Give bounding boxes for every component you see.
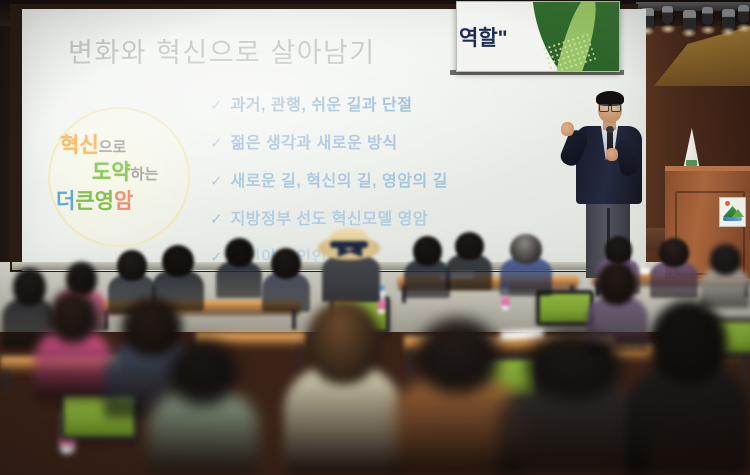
slide-bullet-text: 과거, 관행, 쉬운 길과 단절 — [231, 91, 413, 115]
logo-text-lines: 혁신으로 도약하는 더큰영암 — [48, 107, 190, 247]
logo-line3-a: 더 — [56, 190, 75, 213]
hat-ribbon-band — [330, 241, 368, 248]
ceiling-spotlight — [662, 6, 673, 24]
logo-line3-b: 큰 — [75, 190, 94, 213]
logo-line1-plain: 으로 — [99, 139, 127, 156]
check-icon: ✓ — [210, 174, 223, 189]
audience-head — [710, 244, 741, 275]
audience-head — [455, 232, 484, 260]
audience-member — [650, 238, 698, 298]
bottle-label — [501, 297, 509, 306]
audience-head — [307, 300, 380, 384]
spotlight-glow — [700, 25, 716, 35]
audience-member — [148, 340, 258, 475]
audience-head — [49, 290, 97, 343]
county-emblem-icon — [719, 197, 746, 227]
audience-head — [659, 238, 689, 267]
audience-member — [586, 262, 648, 352]
slide-title: 변화와 혁신으로 살아남기 — [68, 31, 376, 70]
audience-head — [510, 234, 542, 264]
audience-head — [598, 262, 636, 305]
logo-line2-accent: 도약 — [92, 161, 131, 184]
audience-head — [117, 250, 147, 281]
logo-line3-d: 암 — [114, 190, 133, 213]
slide-bullet-text: 젊은 생각과 새로운 방식 — [231, 129, 398, 153]
audience-head — [417, 318, 499, 393]
audience-head — [413, 236, 442, 266]
logo-line1-accent: 혁신 — [60, 134, 99, 157]
audience-member — [284, 300, 402, 475]
audience-member — [216, 238, 262, 298]
audience-member — [500, 234, 552, 296]
banner-text: 역할" — [459, 22, 508, 52]
screenshot-root: 변화와 혁신으로 살아남기 혁신으로 도약하는 더큰영암 ✓과거, 관행, 쉬운… — [0, 0, 750, 475]
audience-member — [34, 290, 112, 400]
glasses-icon — [599, 104, 621, 110]
check-icon: ✓ — [210, 136, 223, 151]
audience-head — [605, 236, 632, 264]
speaker-right-hand — [606, 148, 618, 161]
spotlight-glow — [720, 27, 736, 37]
audience-head — [169, 340, 237, 405]
ceiling-spotlight — [738, 5, 749, 23]
slide-bullet-text: 지방정부 선도 혁신모델 영암 — [231, 205, 428, 229]
slide-bullet-text: 새로운 길, 혁신의 길, 영암의 길 — [231, 167, 448, 191]
logo-line3-c: 영 — [95, 190, 114, 213]
ceiling-spotlight — [702, 7, 713, 25]
check-icon: ✓ — [210, 212, 223, 227]
audience-head — [225, 238, 254, 267]
spotlight-glow — [660, 24, 676, 34]
desk-leg — [4, 368, 8, 394]
spotlight-glow — [681, 28, 697, 38]
slide-logo: 혁신으로 도약하는 더큰영암 — [48, 107, 190, 247]
audience-head — [650, 300, 727, 384]
check-icon: ✓ — [210, 98, 223, 113]
audience-member-with-hat — [318, 228, 384, 276]
audience-head — [162, 245, 194, 277]
audience-member — [700, 244, 750, 308]
audience-member — [446, 232, 492, 290]
stage-banner: 역할" — [456, 1, 620, 72]
logo-line2-plain: 하는 — [131, 166, 159, 183]
hat-person-top — [322, 256, 380, 302]
speaker-left-hand — [561, 122, 574, 136]
spotlight-glow — [736, 23, 750, 33]
audience-member — [404, 236, 450, 298]
audience-head — [271, 248, 301, 279]
